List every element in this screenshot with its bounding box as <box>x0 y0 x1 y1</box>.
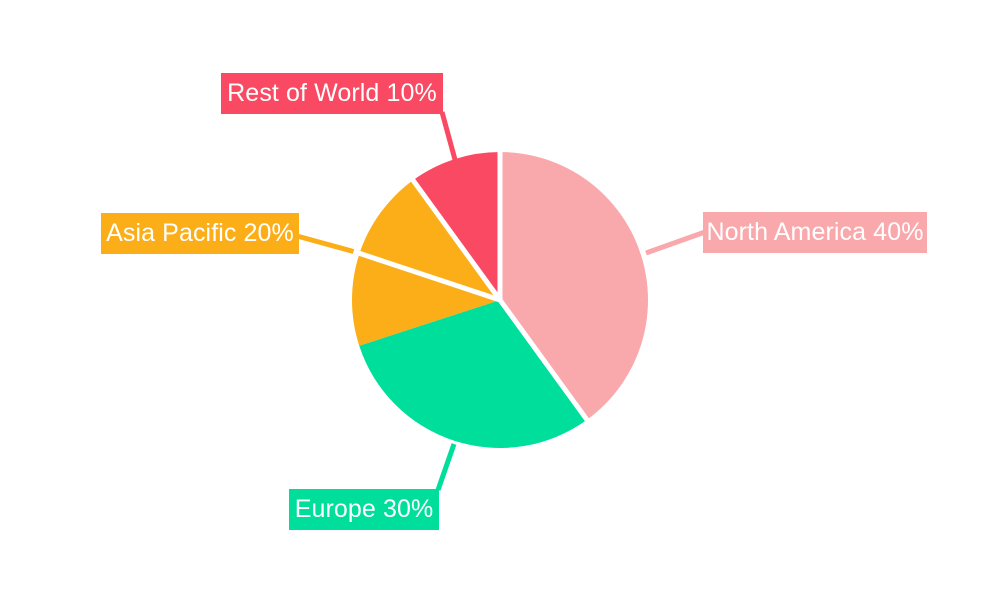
leader-line-north-america <box>646 232 705 253</box>
pie-label-asia-pacific[interactable]: Asia Pacific 20% <box>101 213 299 254</box>
pie-label-rest-of-world[interactable]: Rest of World 10% <box>221 73 443 114</box>
pie-label-north-america[interactable]: North America 40% <box>703 212 927 253</box>
pie-chart-canvas <box>0 0 1000 600</box>
pie-label-europe[interactable]: Europe 30% <box>289 489 439 530</box>
leader-line-europe <box>438 444 454 490</box>
leader-line-asia-pacific <box>297 236 359 253</box>
leader-line-rest-of-world <box>442 112 457 167</box>
pie-chart-figure: North America 40% Europe 30% Asia Pacifi… <box>0 0 1000 600</box>
